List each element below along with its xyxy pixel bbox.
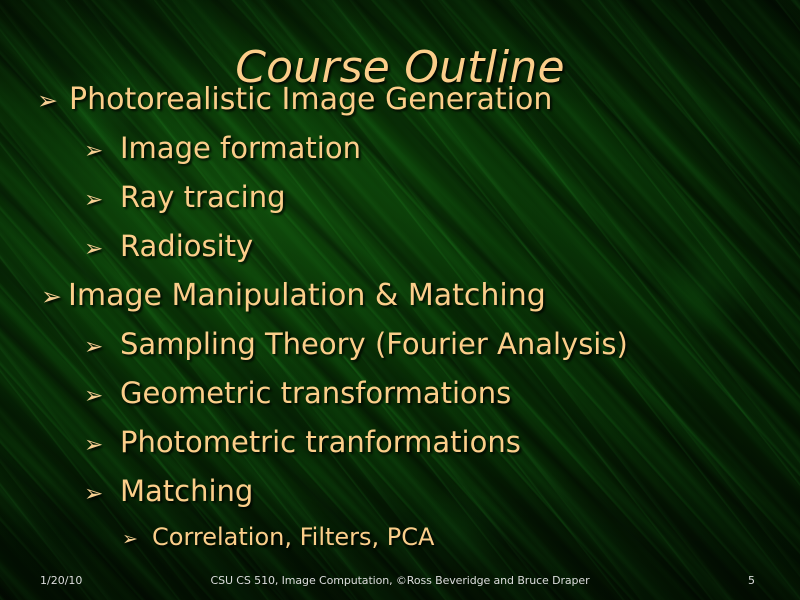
arrowhead-bullet-icon: ➢: [84, 481, 120, 507]
outline-item-label: Image Manipulation & Matching: [68, 278, 546, 313]
outline-item-level-2: ➢Radiosity: [0, 229, 800, 278]
outline-item-label: Photorealistic Image Generation: [69, 82, 552, 117]
outline-item-level-2: ➢Geometric transformations: [0, 376, 800, 425]
footer-attribution: CSU CS 510, Image Computation, ©Ross Bev…: [0, 574, 800, 587]
outline-bullet-list: ➢Photorealistic Image Generation➢Image f…: [0, 82, 800, 571]
outline-item-level-1: ➢Image Manipulation & Matching: [0, 278, 800, 327]
arrowhead-bullet-icon: ➢: [84, 236, 120, 262]
arrowhead-bullet-icon: ➢: [84, 187, 120, 213]
outline-item-level-2: ➢Matching: [0, 474, 800, 523]
outline-item-label: Correlation, Filters, PCA: [152, 523, 434, 551]
arrowhead-bullet-icon: ➢: [84, 334, 120, 360]
outline-item-label: Matching: [120, 474, 253, 508]
outline-item-label: Ray tracing: [120, 180, 286, 214]
footer-page-number: 5: [748, 574, 755, 587]
outline-item-level-2: ➢Image formation: [0, 131, 800, 180]
outline-item-label: Sampling Theory (Fourier Analysis): [120, 327, 628, 361]
arrowhead-bullet-icon: ➢: [37, 86, 69, 115]
arrowhead-bullet-icon: ➢: [84, 383, 120, 409]
arrowhead-bullet-icon: ➢: [84, 138, 120, 164]
presentation-slide: Course Outline ➢Photorealistic Image Gen…: [0, 0, 800, 600]
arrowhead-bullet-icon: ➢: [122, 528, 152, 550]
slide-content: Course Outline ➢Photorealistic Image Gen…: [0, 0, 800, 600]
outline-item-label: Geometric transformations: [120, 376, 511, 410]
outline-item-level-1: ➢Photorealistic Image Generation: [0, 82, 800, 131]
slide-footer: 1/20/10 CSU CS 510, Image Computation, ©…: [0, 566, 800, 600]
outline-item-level-2: ➢Sampling Theory (Fourier Analysis): [0, 327, 800, 376]
arrowhead-bullet-icon: ➢: [84, 432, 120, 458]
outline-item-label: Radiosity: [120, 229, 253, 263]
outline-item-level-2: ➢Photometric tranformations: [0, 425, 800, 474]
outline-item-label: Image formation: [120, 131, 361, 165]
arrowhead-bullet-icon: ➢: [41, 282, 68, 311]
outline-item-level-3: ➢Correlation, Filters, PCA: [0, 523, 800, 571]
outline-item-label: Photometric tranformations: [120, 425, 521, 459]
outline-item-level-2: ➢Ray tracing: [0, 180, 800, 229]
